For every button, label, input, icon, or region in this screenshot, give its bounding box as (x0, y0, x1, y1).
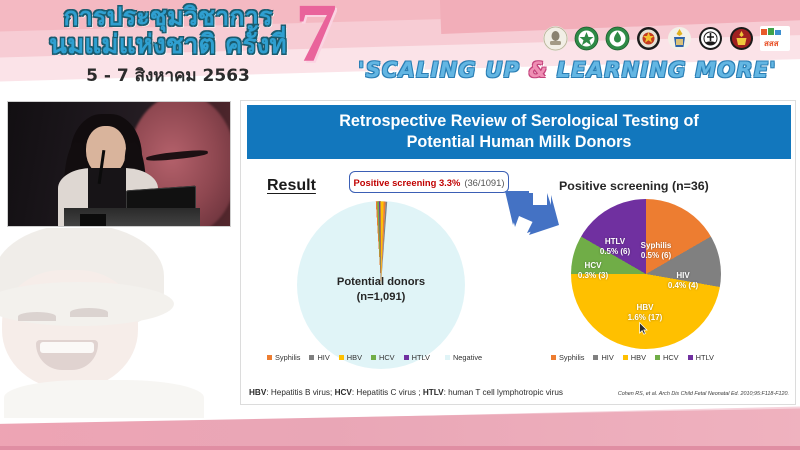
conference-tagline: 'SCALING UP & LEARNING MORE' (358, 58, 777, 82)
slice-label-htlv-name: HTLV (587, 237, 643, 247)
legend2-label-htlv: HTLV (696, 353, 714, 362)
speaker-video-thumbnail[interactable] (8, 102, 230, 226)
legend-label-syphilis: Syphilis (275, 353, 300, 362)
legend-item-hiv: HIV (309, 353, 329, 362)
potential-donors-legend: Syphilis HIV HBV HCV HTLV Negative (267, 353, 482, 362)
thai-emblem-logo (636, 26, 661, 51)
podium-panel (80, 214, 106, 226)
ministry-health-logo-1 (574, 26, 599, 51)
potential-donors-pie-chart: Potential donors (n=1,091) (297, 201, 465, 369)
potential-donors-label-line-2: (n=1,091) (297, 290, 465, 305)
footnote-term-htlv: HTLV (423, 388, 444, 397)
legend2-swatch-hbv (623, 355, 628, 360)
source-citation: Cohen RS, et al. Arch Dis Child Fetal Ne… (618, 391, 789, 397)
positive-screening-chart-title: Positive screening (n=36) (559, 179, 709, 193)
callout-highlight-text: Positive screening 3.3% (354, 177, 461, 188)
legend-item-hbv: HBV (339, 353, 362, 362)
pie-slice-label-hcv: HCV 0.3% (3) (569, 261, 617, 282)
legend-swatch-hiv (309, 355, 314, 360)
tagline-part-2: LEARNING MORE' (548, 58, 777, 82)
footer-edge-line (0, 446, 800, 450)
legend2-item-hbv: HBV (623, 353, 646, 362)
unicef-logo (698, 26, 723, 51)
page-footer-banner (0, 402, 800, 450)
tagline-ampersand: & (529, 58, 549, 82)
conference-header-banner: การประชุมวิชาการ นมแม่แห่งชาติ ครั้งที่ … (0, 0, 800, 95)
legend-swatch-hbv (339, 355, 344, 360)
legend-label-hbv: HBV (347, 353, 362, 362)
slice-label-hbv-name: HBV (615, 303, 675, 313)
legend2-swatch-hcv (655, 355, 660, 360)
royal-seal-logo (543, 26, 568, 51)
baby-watermark-image (0, 228, 232, 418)
potential-donors-label-line-1: Potential donors (297, 275, 465, 290)
baby-eye-left (18, 312, 56, 321)
conference-thai-title: การประชุมวิชาการ นมแม่แห่งชาติ ครั้งที่ (18, 4, 318, 58)
slide-title: Retrospective Review of Serological Test… (247, 105, 791, 159)
pie-slice-label-hbv: HBV 1.6% (17) (615, 303, 675, 324)
legend-label-hiv: HIV (317, 353, 329, 362)
legend-swatch-hcv (371, 355, 376, 360)
abbreviation-footnote: HBV: Hepatitis B virus; HCV: Hepatitis C… (249, 388, 563, 397)
legend-item-htlv: HTLV (404, 353, 430, 362)
royal-college-logo (729, 26, 754, 51)
positive-screening-legend: Syphilis HIV HBV HCV HTLV (551, 353, 714, 362)
blue-arrow-icon (503, 189, 561, 241)
baby-eye-right (70, 308, 108, 317)
legend2-swatch-syphilis (551, 355, 556, 360)
legend2-swatch-hiv (593, 355, 598, 360)
conference-date: 5 - 7 สิงหาคม 2563 (18, 62, 318, 89)
conference-edition-number: 7 (295, 0, 337, 76)
legend2-label-hiv: HIV (601, 353, 613, 362)
svg-text:สสส: สสส (764, 39, 779, 48)
legend-item-syphilis: Syphilis (267, 353, 300, 362)
ministry-health-logo-2 (605, 26, 630, 51)
pie-slice-label-htlv: HTLV 0.5% (6) (587, 237, 643, 258)
slide-title-line-2: Potential Human Milk Donors (407, 132, 632, 153)
mouse-cursor-icon (639, 322, 648, 335)
slice-label-hiv-value: 0.4% (4) (657, 281, 709, 291)
slice-label-htlv-value: 0.5% (6) (587, 247, 643, 257)
presentation-slide: Retrospective Review of Serological Test… (240, 100, 796, 405)
sponsor-logo-row: สสส (543, 26, 790, 51)
legend2-label-hbv: HBV (631, 353, 646, 362)
legend2-item-htlv: HTLV (688, 353, 714, 362)
legend2-item-hiv: HIV (593, 353, 613, 362)
footnote-term-hbv: HBV (249, 388, 266, 397)
legend-swatch-syphilis (267, 355, 272, 360)
result-heading: Result (267, 177, 316, 195)
legend2-label-syphilis: Syphilis (559, 353, 584, 362)
footnote-term-hcv: HCV (335, 388, 352, 397)
legend2-label-hcv: HCV (663, 353, 679, 362)
garuda-crest-logo (667, 26, 692, 51)
callout-detail-text: (36/1091) (464, 177, 504, 188)
legend2-item-hcv: HCV (655, 353, 679, 362)
legend-item-negative: Negative (445, 353, 482, 362)
slice-label-hcv-name: HCV (569, 261, 617, 271)
positive-screening-callout: Positive screening 3.3% (36/1091) (349, 171, 509, 193)
potential-donors-center-label: Potential donors (n=1,091) (297, 275, 465, 305)
legend-swatch-negative (445, 355, 450, 360)
baby-teeth (40, 342, 94, 353)
pie-slice-label-hiv: HIV 0.4% (4) (657, 271, 709, 292)
legend-label-htlv: HTLV (412, 353, 430, 362)
sss-thaihealth-logo: สสส (760, 26, 790, 51)
slice-label-hiv-name: HIV (657, 271, 709, 281)
tagline-part-1: 'SCALING UP (358, 58, 529, 82)
legend-swatch-htlv (404, 355, 409, 360)
thai-title-line-1: การประชุมวิชาการ (18, 4, 318, 30)
legend2-swatch-htlv (688, 355, 693, 360)
legend-item-hcv: HCV (371, 353, 395, 362)
slide-footnote-row: HBV: Hepatitis B virus; HCV: Hepatitis C… (249, 388, 789, 397)
legend-label-negative: Negative (453, 353, 482, 362)
footer-band-pink (0, 407, 800, 450)
legend-label-hcv: HCV (379, 353, 395, 362)
slide-title-line-1: Retrospective Review of Serological Test… (339, 111, 699, 132)
slice-label-hcv-value: 0.3% (3) (569, 271, 617, 281)
thai-title-line-2: นมแม่แห่งชาติ ครั้งที่ (18, 32, 318, 59)
legend2-item-syphilis: Syphilis (551, 353, 584, 362)
